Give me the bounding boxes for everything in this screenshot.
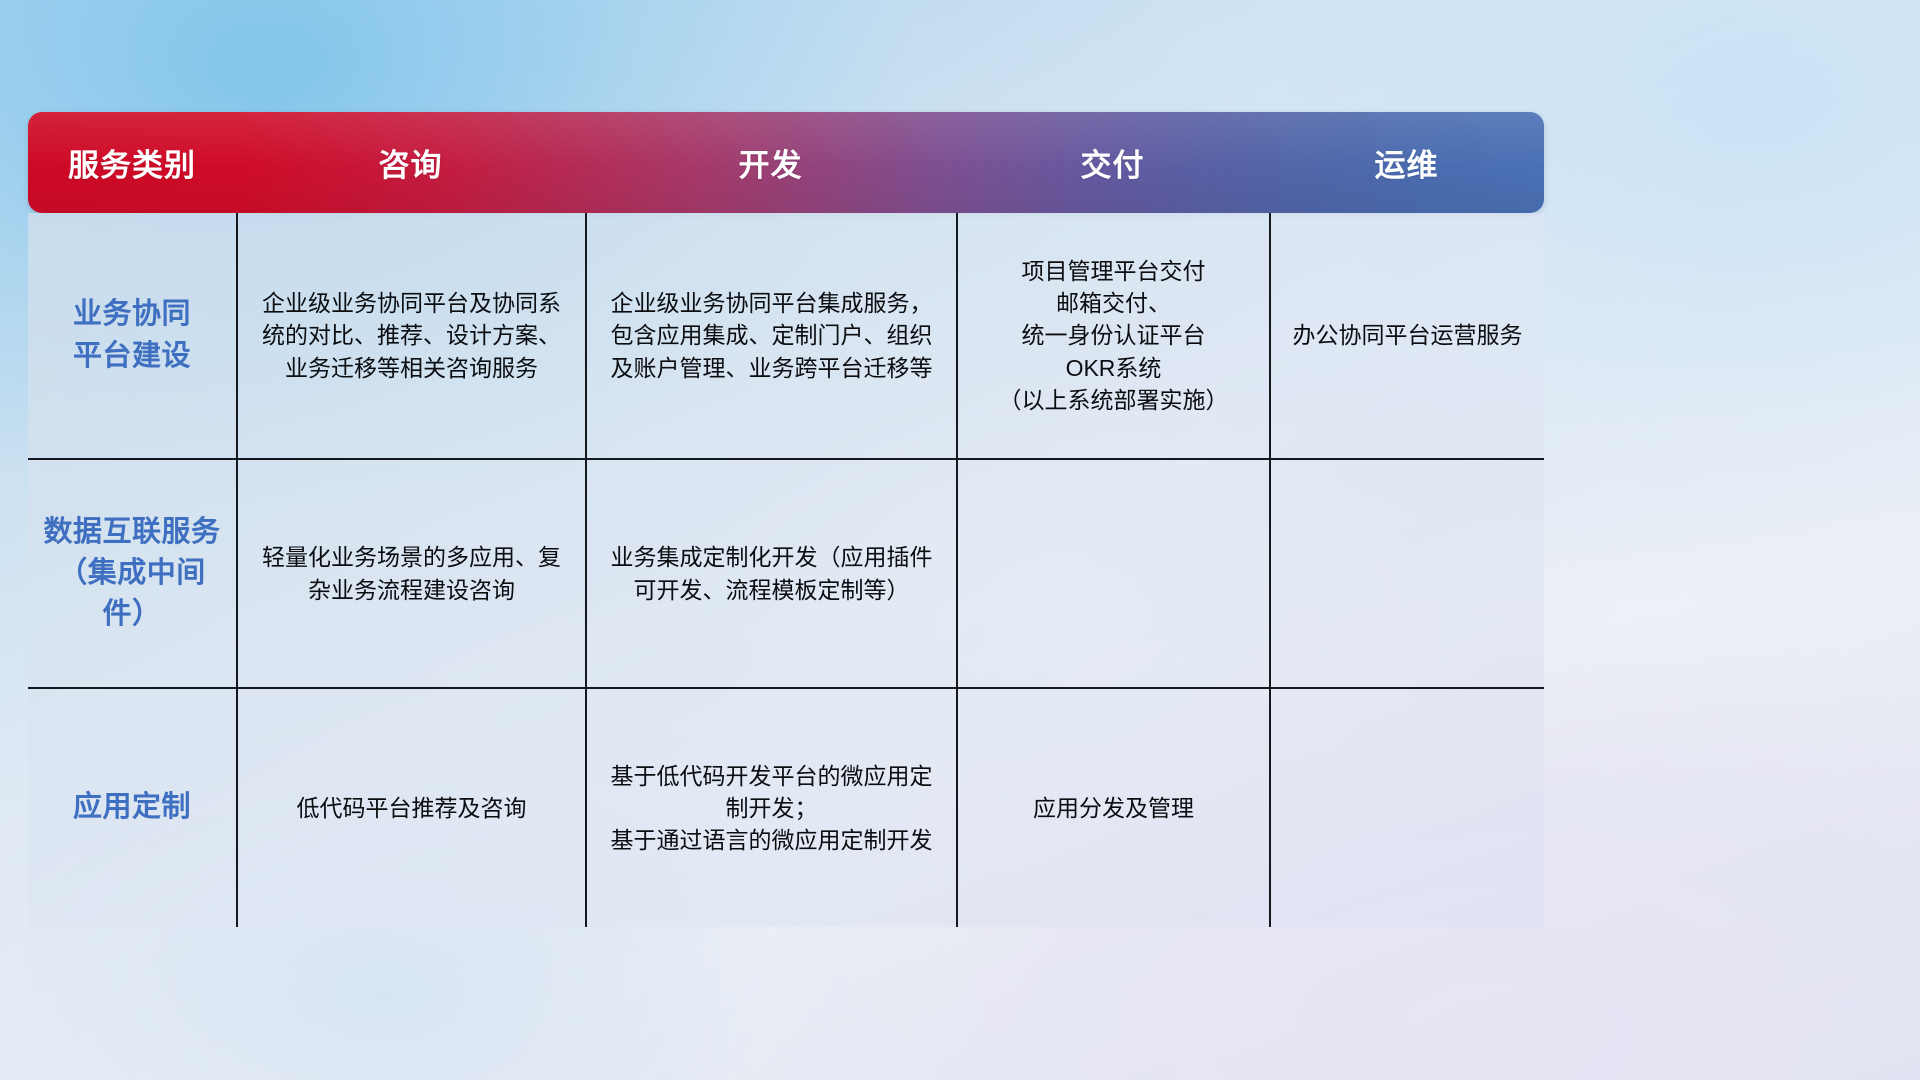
- cell-operations: 办公协同平台运营服务: [1269, 213, 1544, 458]
- cell-delivery: 应用分发及管理: [956, 689, 1269, 927]
- table-row: 应用定制 低代码平台推荐及咨询 基于低代码开发平台的微应用定 制开发； 基于通过…: [28, 687, 1544, 927]
- table-row: 业务协同 平台建设 企业级业务协同平台及协同系 统的对比、推荐、设计方案、 业务…: [28, 213, 1544, 458]
- cell-consulting: 企业级业务协同平台及协同系 统的对比、推荐、设计方案、 业务迁移等相关咨询服务: [236, 213, 585, 458]
- table-header-delivery: 交付: [956, 140, 1269, 185]
- table-header-service-category: 服务类别: [28, 140, 236, 185]
- cell-delivery: 项目管理平台交付 邮箱交付、 统一身份认证平台 OKR系统 （以上系统部署实施）: [956, 213, 1269, 458]
- cell-delivery: [956, 460, 1269, 687]
- cell-consulting: 轻量化业务场景的多应用、复 杂业务流程建设咨询: [236, 460, 585, 687]
- table-header-operations: 运维: [1269, 140, 1544, 185]
- table-header-consulting: 咨询: [236, 140, 585, 185]
- table-header-row: 服务类别 咨询 开发 交付 运维: [28, 112, 1544, 213]
- cell-consulting: 低代码平台推荐及咨询: [236, 689, 585, 927]
- table-row: 数据互联服务 （集成中间件） 轻量化业务场景的多应用、复 杂业务流程建设咨询 业…: [28, 458, 1544, 687]
- cell-development: 企业级业务协同平台集成服务， 包含应用集成、定制门户、组织 及账户管理、业务跨平…: [585, 213, 956, 458]
- cell-development: 基于低代码开发平台的微应用定 制开发； 基于通过语言的微应用定制开发: [585, 689, 956, 927]
- row-category-label: 应用定制: [28, 689, 236, 927]
- cell-operations: [1269, 460, 1544, 687]
- cell-operations: [1269, 689, 1544, 927]
- table-body: 业务协同 平台建设 企业级业务协同平台及协同系 统的对比、推荐、设计方案、 业务…: [28, 213, 1544, 927]
- service-matrix-table: 服务类别 咨询 开发 交付 运维 业务协同 平台建设 企业级业务协同平台及协同系…: [28, 112, 1544, 927]
- table-header-development: 开发: [585, 140, 956, 185]
- row-category-label: 数据互联服务 （集成中间件）: [28, 460, 236, 687]
- row-category-label: 业务协同 平台建设: [28, 213, 236, 458]
- cell-development: 业务集成定制化开发（应用插件 可开发、流程模板定制等）: [585, 460, 956, 687]
